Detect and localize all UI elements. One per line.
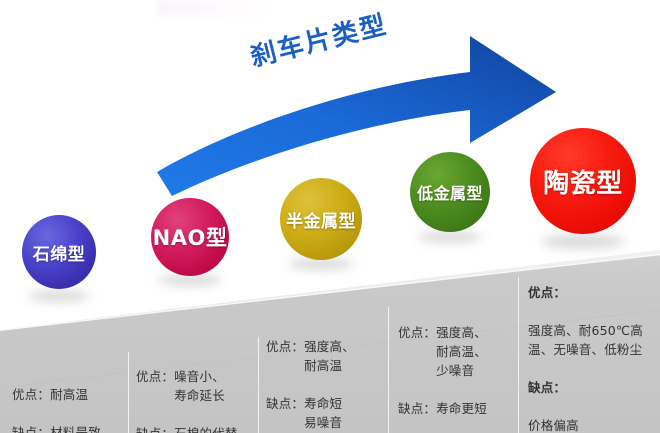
sphere-shadow-1 bbox=[28, 290, 90, 302]
row-pros: 优点： 强度高、 耐高温 bbox=[266, 337, 384, 375]
row-value: 材料是致 痫物质 bbox=[50, 423, 122, 433]
pros-value: 强度高、耐650℃高 温、无噪音、低粉尘 bbox=[528, 321, 656, 359]
row-key: 缺点： bbox=[136, 424, 174, 433]
column-semi-metallic: 优点： 强度高、 耐高温 缺点： 寿命短 易噪音 bbox=[266, 318, 384, 433]
sphere-shadow-4 bbox=[418, 231, 482, 243]
cons-label: 缺点： bbox=[528, 378, 656, 397]
row-key: 优点： bbox=[12, 385, 50, 404]
column-divider-3 bbox=[388, 307, 389, 433]
pros-label: 优点： bbox=[528, 283, 656, 302]
node-sphere-low-metallic[interactable]: 低金属型 bbox=[410, 152, 490, 232]
row-cons: 缺点： 材料是致 痫物质 bbox=[12, 423, 122, 433]
row-value: 石棉的代替 bbox=[174, 424, 254, 433]
column-nao: 优点： 噪音小、 寿命延长 缺点： 石棉的代替 材料，成本高 bbox=[136, 348, 254, 433]
column-divider-2 bbox=[258, 337, 259, 433]
row-value: 强度高、 耐高温、 少噪音 bbox=[436, 323, 516, 380]
node-label: 陶瓷型 bbox=[543, 163, 623, 200]
node-sphere-semi-metallic[interactable]: 半金属型 bbox=[280, 178, 362, 260]
brake-pad-type-infographic: 刹车片类型 石绵型 NAO型 半金属型 低金属型 陶瓷型 优点： 耐高温 缺点：… bbox=[0, 0, 660, 433]
cons-value: 价格偏高 bbox=[528, 416, 656, 433]
row-value: 噪音小、 寿命延长 bbox=[174, 367, 254, 405]
row-value: 寿命更短 bbox=[436, 399, 516, 418]
watermark-artifact bbox=[158, 0, 278, 16]
row-cons: 缺点： 石棉的代替 bbox=[136, 424, 254, 433]
node-label: 低金属型 bbox=[417, 180, 483, 204]
row-pros: 优点： 噪音小、 寿命延长 bbox=[136, 367, 254, 405]
node-sphere-asbestos[interactable]: 石绵型 bbox=[22, 215, 96, 289]
sphere-shadow-5 bbox=[541, 234, 625, 249]
column-low-metallic: 优点： 强度高、 耐高温、 少噪音 缺点： 寿命更短 bbox=[398, 304, 516, 433]
column-ceramic: 优点： 强度高、耐650℃高 温、无噪音、低粉尘 缺点： 价格偏高 bbox=[528, 264, 656, 433]
column-divider-4 bbox=[518, 277, 519, 433]
node-label: 半金属型 bbox=[286, 207, 356, 232]
row-key: 缺点： bbox=[12, 423, 50, 433]
column-asbestos: 优点： 耐高温 缺点： 材料是致 痫物质 bbox=[12, 366, 122, 433]
row-pros: 优点： 耐高温 bbox=[12, 385, 122, 404]
node-label: 石绵型 bbox=[33, 240, 86, 265]
row-key: 优点： bbox=[136, 367, 174, 405]
row-value: 耐高温 bbox=[50, 385, 122, 404]
row-value: 强度高、 耐高温 bbox=[304, 337, 384, 375]
node-sphere-nao[interactable]: NAO型 bbox=[151, 198, 229, 276]
row-key: 优点： bbox=[398, 323, 436, 380]
row-pros: 优点： 强度高、 耐高温、 少噪音 bbox=[398, 323, 516, 380]
row-key: 优点： bbox=[266, 337, 304, 375]
row-value: 寿命短 易噪音 bbox=[304, 394, 384, 432]
row-cons: 缺点： 寿命短 易噪音 bbox=[266, 394, 384, 432]
node-label: NAO型 bbox=[153, 222, 228, 252]
row-cons: 缺点： 寿命更短 bbox=[398, 399, 516, 418]
node-sphere-ceramic[interactable]: 陶瓷型 bbox=[530, 128, 636, 234]
row-key: 缺点： bbox=[266, 394, 304, 432]
row-key: 缺点： bbox=[398, 399, 436, 418]
column-divider-1 bbox=[128, 352, 129, 433]
